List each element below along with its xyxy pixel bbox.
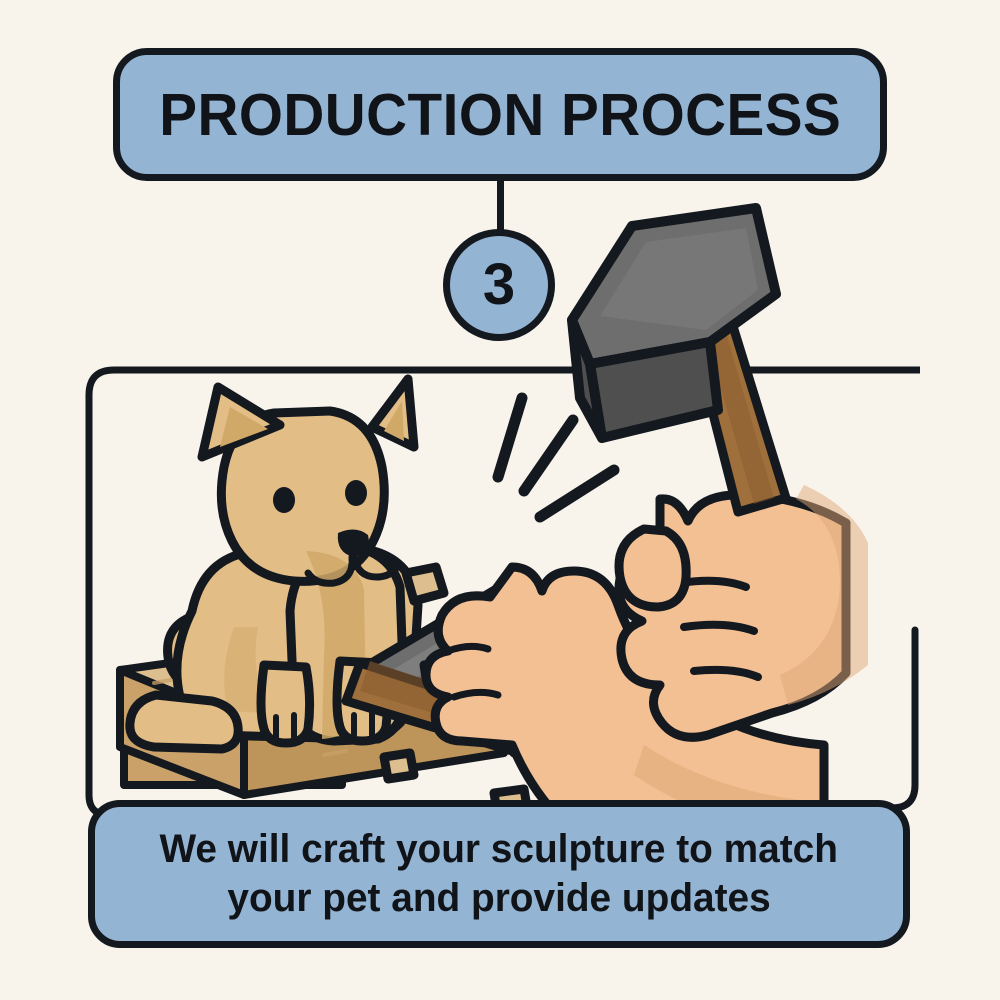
wood-chip: [384, 753, 414, 779]
wood-chip: [406, 567, 444, 601]
caption-banner: We will craft your sculpture to match yo…: [88, 800, 910, 948]
hand-hammer: [619, 485, 868, 737]
dog-eye-left: [273, 487, 295, 513]
caption-line-2: your pet and provide updates: [227, 874, 770, 923]
infographic-card: PRODUCTION PROCESS 3: [0, 0, 1000, 1000]
page-title: PRODUCTION PROCESS: [159, 81, 841, 149]
caption-line-1: We will craft your sculpture to match: [160, 825, 838, 874]
step-number: 3: [483, 256, 515, 314]
illustration-panel: [84, 365, 920, 825]
step-badge: 3: [443, 229, 555, 341]
header-banner: PRODUCTION PROCESS: [113, 48, 887, 181]
dog-eye-right: [345, 480, 367, 506]
impact-lines: [498, 398, 614, 517]
